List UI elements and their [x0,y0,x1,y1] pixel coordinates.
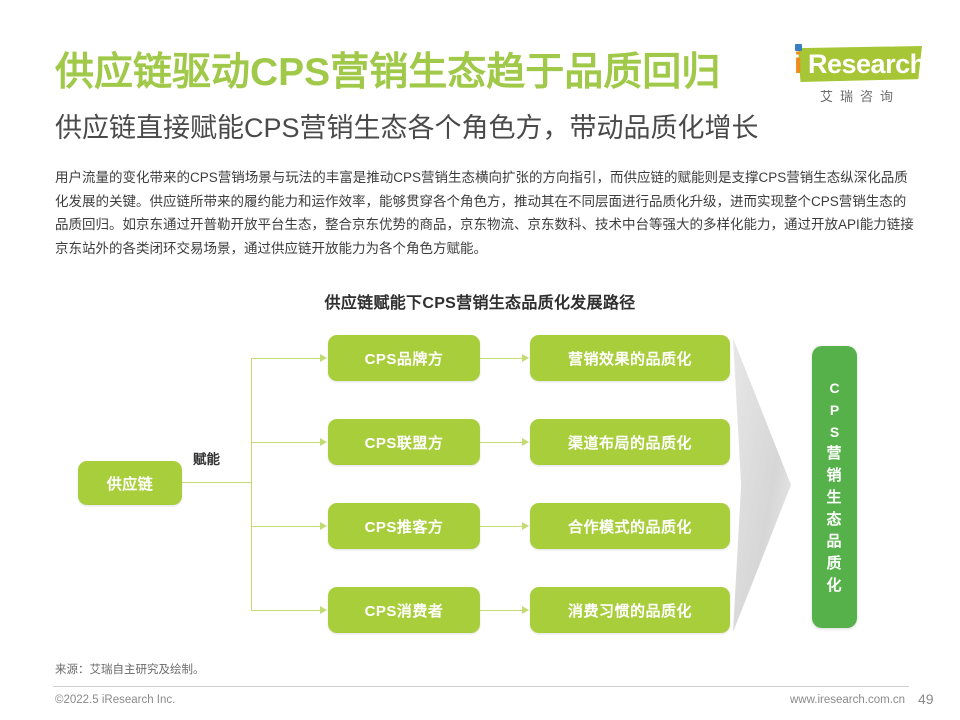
result-bar-char-7: 化 [826,575,842,597]
logo-chinese-name: 艾瑞咨询 [798,86,922,105]
connector-role-2-to-outcome [480,442,523,443]
iresearch-logo: i Research 艾瑞咨询 [790,44,930,110]
result-bar-char-5: 品 [826,531,842,553]
logo-mark: i Research [790,44,922,84]
connector-trunk [251,358,252,610]
arrowhead-branch-3-icon [320,522,327,530]
diagram-node-role-1: CPS品牌方 [328,335,480,381]
body-paragraph: 用户流量的变化带来的CPS营销场景与玩法的丰富是推动CPS营销生态横向扩张的方向… [55,166,915,260]
result-bar-char-s: S [830,421,839,443]
result-bar-char-4: 态 [826,509,842,531]
diagram-node-outcome-3: 合作模式的品质化 [530,503,730,549]
diagram-node-outcome-4: 消费习惯的品质化 [530,587,730,633]
connector-branch-1 [251,358,321,359]
arrowhead-outcome-3-icon [522,522,529,530]
result-bar-char-3: 生 [826,487,842,509]
diagram-node-role-2: CPS联盟方 [328,419,480,465]
connector-role-1-to-outcome [480,358,523,359]
result-bar-char-6: 质 [826,553,842,575]
page-title: 供应链驱动CPS营销生态趋于品质回归 [55,50,720,96]
connector-source-stem [182,482,252,483]
source-note: 来源：艾瑞自主研究及绘制。 [55,661,205,677]
diagram-canvas: 供应链 赋能 CPS品牌方 CPS联盟方 CPS推客方 CPS消费者 营销效果的… [0,320,960,650]
site-url: www.iresearch.com.cn [790,694,905,706]
arrowhead-branch-4-icon [320,606,327,614]
diagram-node-outcome-1: 营销效果的品质化 [530,335,730,381]
arrowhead-outcome-4-icon [522,606,529,614]
diagram-result-bar: C P S 营 销 生 态 品 质 化 [812,346,857,628]
page-number: 49 [918,691,934,707]
result-bar-char-1: 营 [826,443,842,465]
result-bar-char-2: 销 [826,465,842,487]
arrowhead-branch-2-icon [320,438,327,446]
connector-branch-3 [251,526,321,527]
logo-wordmark: Research [808,48,926,80]
connector-branch-2 [251,442,321,443]
connector-branch-4 [251,610,321,611]
connector-role-3-to-outcome [480,526,523,527]
copyright-text: ©2022.5 iResearch Inc. [55,694,175,706]
connector-label-enable: 赋能 [193,448,220,468]
result-bar-char-p: P [830,399,839,421]
arrowhead-outcome-2-icon [522,438,529,446]
chevron-arrow-icon [733,338,791,632]
result-bar-char-c: C [829,377,839,399]
diagram-node-outcome-2: 渠道布局的品质化 [530,419,730,465]
arrowhead-outcome-1-icon [522,354,529,362]
logo-letter-i: i [794,48,802,80]
page-subtitle: 供应链直接赋能CPS营销生态各个角色方，带动品质化增长 [55,110,759,146]
diagram-node-role-3: CPS推客方 [328,503,480,549]
footer-divider [53,686,909,687]
diagram-title: 供应链赋能下CPS营销生态品质化发展路径 [0,289,960,313]
diagram-node-role-4: CPS消费者 [328,587,480,633]
connector-role-4-to-outcome [480,610,523,611]
arrowhead-branch-1-icon [320,354,327,362]
diagram-node-source: 供应链 [78,461,182,505]
